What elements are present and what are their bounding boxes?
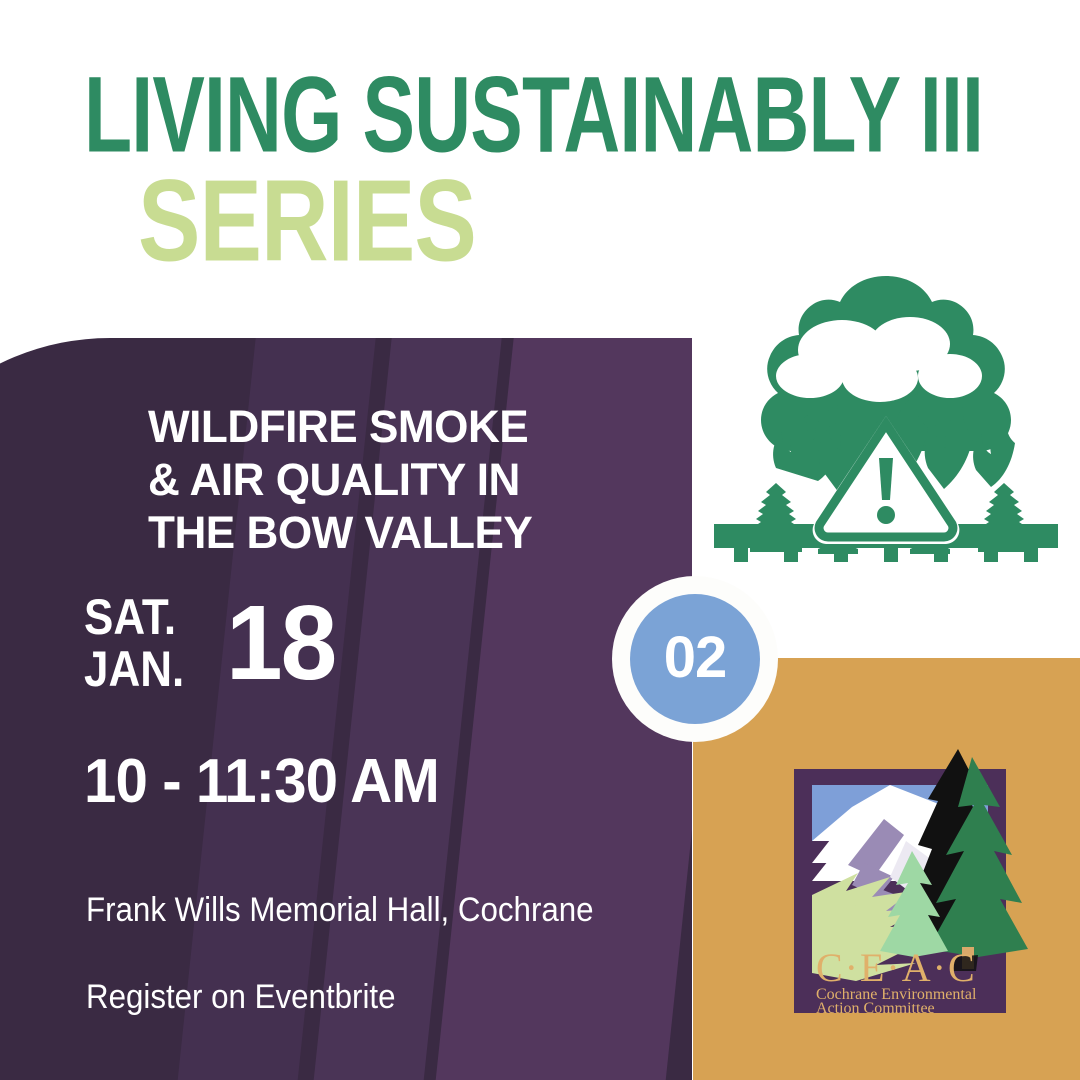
- series-title-line1: LIVING SUSTAINABLY III: [84, 62, 983, 170]
- event-title-line3: THE BOW VALLEY: [148, 506, 638, 559]
- event-info-content: WILDFIRE SMOKE & AIR QUALITY IN THE BOW …: [0, 338, 692, 1080]
- event-time: 10 - 11:30 AM: [84, 750, 439, 814]
- event-title: WILDFIRE SMOKE & AIR QUALITY IN THE BOW …: [148, 400, 638, 559]
- ceac-name-line2: Action Committee: [816, 1000, 935, 1017]
- event-registration: Register on Eventbrite: [86, 978, 395, 1016]
- session-number-label: 02: [664, 629, 727, 687]
- session-number-badge: 02: [612, 576, 778, 742]
- ceac-acronym-text: C·E·A·C: [816, 945, 977, 990]
- session-number-circle: 02: [630, 594, 760, 724]
- event-venue: Frank Wills Memorial Hall, Cochrane: [86, 891, 594, 929]
- event-date: SAT. JAN. 18: [84, 591, 340, 695]
- poster-canvas: LIVING SUSTAINABLY III SERIES: [0, 0, 1080, 1080]
- event-title-line2: & AIR QUALITY IN: [148, 453, 638, 506]
- wildfire-smoke-icon: [714, 272, 1058, 564]
- event-date-weekday-month: SAT. JAN.: [84, 591, 200, 695]
- series-title-line2: SERIES: [138, 163, 476, 279]
- event-month: JAN.: [84, 643, 200, 695]
- ceac-logo-icon: C·E·A·C Cochrane Environmental Action Co…: [786, 745, 1034, 1017]
- event-title-line1: WILDFIRE SMOKE: [148, 400, 638, 453]
- event-day-number: 18: [226, 591, 335, 695]
- series-headline: LIVING SUSTAINABLY III SERIES: [0, 62, 1080, 292]
- event-weekday: SAT.: [84, 591, 200, 643]
